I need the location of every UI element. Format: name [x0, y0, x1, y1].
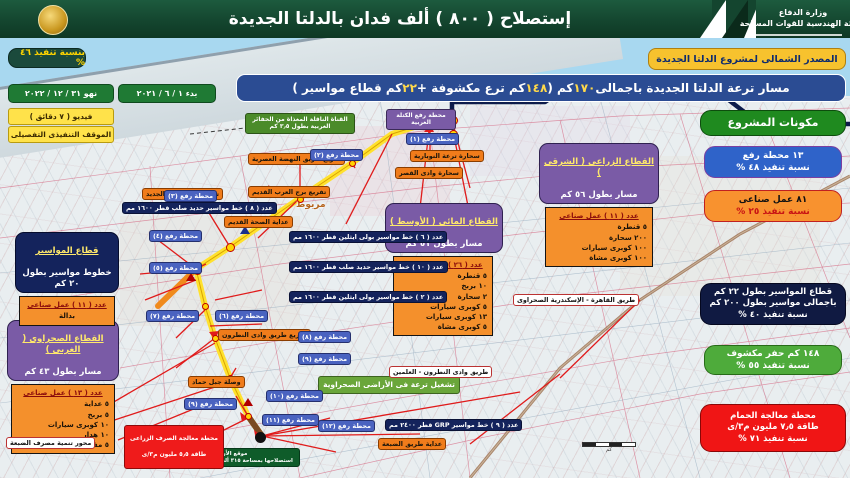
callout-agri-drain-treatment[interactable]: محطة معالجة الصرف الزراعى طاقة ٥٫٥ مليون…: [124, 425, 224, 469]
lift-stations-count: ١٣ محطة رفع: [743, 150, 804, 162]
banner-open-text: كم ترع مكشوفة +: [417, 81, 525, 95]
sector-card-eastern[interactable]: القطاع الزراعى ( الشرقى ) مسار بطول ٥٦ ك…: [539, 143, 659, 267]
sector-pipeline-body: عدد ( ١١ ) عمل صناعى بدالة: [19, 296, 115, 325]
callout-nubariya-canal-culvert[interactable]: سحارة ترعة النوبارية: [410, 150, 484, 162]
pipeline-total: باجمالى مواسير بطول ٢٠٠ كم: [709, 298, 836, 309]
sector-pipeline-row: بدالة: [25, 311, 109, 321]
sector-eastern-head: القطاع الزراعى ( الشرقى ) مسار بطول ٥٦ ك…: [539, 143, 659, 204]
callout-qasr-culvert[interactable]: سحارة وادى القصر: [395, 167, 463, 179]
station-west-tahrir[interactable]: محطة رفع الكتلة الغربية: [386, 109, 456, 130]
station-8[interactable]: محطة رفع (٨): [298, 331, 351, 343]
progress-badge: بنسبة تنفيذ ٤٦ %: [8, 48, 86, 68]
hammam-progress: نسبة تنفيذ ٧١ %: [738, 434, 807, 445]
detail-status-button[interactable]: الموقف التنفيذى التفصيلى: [8, 126, 114, 143]
station-9-alt[interactable]: محطة رفع (٩): [298, 353, 351, 365]
canal-node-d: [349, 160, 356, 167]
banner-pipe-km: ٢٢: [402, 81, 417, 95]
sector-pipeline-title: قطاع المواسير: [36, 246, 99, 256]
drain-title: محطة معالجة الصرف الزراعى: [128, 435, 220, 443]
sector-card-western[interactable]: القطاع الصحراوى ( الغربى ) مسار بطول ٤٣ …: [7, 320, 119, 454]
org-line-1: وزارة الدفاع: [779, 8, 828, 19]
sector-eastern-row: ١٠٠ كوبرى سيارات: [551, 243, 647, 253]
callout-dabaa-road-crossing[interactable]: عداية طريق الضبعة: [378, 438, 446, 450]
station-1[interactable]: محطة رفع (١): [406, 133, 459, 145]
station-4[interactable]: محطة رفع (٤): [149, 230, 202, 242]
slide-canvas: إستصلاح ( ٨٠٠ ) ألف فدان بالدلتا الجديدة…: [0, 0, 850, 478]
banner-total-km: ١٧٠: [573, 81, 595, 95]
callout-branch-old-borg-arab[interactable]: تفريع برج العرب القديم: [248, 186, 330, 198]
project-components-title: مكونات المشروع: [700, 110, 846, 136]
banner-open-km: ١٤٨: [525, 81, 547, 95]
terminal-node: [255, 432, 266, 443]
sector-eastern-row: ٥ قنطرة: [551, 222, 647, 232]
callout-wadi-natrun-alamein-road[interactable]: طريق وادى النطرون - العلمين: [389, 366, 492, 378]
sector-eastern-row: ١٠٠ كوبرى مشاة: [551, 253, 647, 263]
sector-middle-row: ٥ كوبرى سيارات: [399, 302, 487, 312]
component-pipeline-sector[interactable]: قطاع المواسير بطول ٢٢ كم باجمالى مواسير …: [700, 283, 846, 325]
canal-node-k: [245, 413, 252, 420]
station-5[interactable]: محطة رفع (٥): [149, 262, 202, 274]
station-7[interactable]: محطة رفع (٧): [146, 310, 199, 322]
callout-pipe-line-2[interactable]: عدد ( ٢ ) خط مواسير بولى ايثلين قطر ١٦٠٠…: [289, 291, 447, 303]
header-underline: [756, 34, 842, 36]
canal-node-f: [226, 243, 235, 252]
sector-western-title: القطاع الصحراوى ( الغربى ): [22, 334, 103, 355]
sector-pipeline-works-title: عدد ( ١١ ) عمل صناعى: [25, 300, 109, 310]
component-industrial-works[interactable]: ٨١ عمل صناعى نسبة تنفيذ ٢٥ %: [704, 190, 842, 222]
sector-eastern-length: مسار بطول ٥٦ كم: [560, 190, 637, 200]
lift-stations-progress: نسبة تنفيذ ٤٨ %: [736, 162, 810, 174]
banner-mid: كم (: [547, 81, 573, 95]
sector-western-length: مسار بطول ٤٣ كم: [24, 367, 101, 377]
station-12[interactable]: محطة رفع (١٢): [318, 420, 375, 432]
sector-pipeline-head: قطاع المواسير خطوط مواسير بطول ٢٠ كم: [15, 232, 119, 293]
map-scale: كم: [582, 442, 636, 453]
scale-unit: كم: [606, 447, 612, 453]
sector-card-pipeline[interactable]: قطاع المواسير خطوط مواسير بطول ٢٠ كم عدد…: [15, 232, 119, 326]
start-date-button[interactable]: بدء ١ / ٦ / ٢٠٢١: [118, 84, 216, 103]
component-hammam-treatment[interactable]: محطة معالجة الحمام طاقة ٧٫٥ مليون م٣/ى ن…: [700, 404, 846, 452]
pipeline-progress: نسبة تنفيذ ٤٠ %: [738, 310, 807, 321]
end-date-button[interactable]: نهو ٣١ / ١٢ / ٢٠٢٢: [8, 84, 114, 103]
sector-middle-row: ١٣ كوبرى سيارات: [399, 312, 487, 322]
sector-western-row: ٥ عداية: [17, 399, 109, 409]
station-11[interactable]: محطة رفع (١١): [262, 414, 319, 426]
pipeline-length: قطاع المواسير بطول ٢٢ كم: [714, 287, 832, 298]
component-lift-stations[interactable]: ١٣ محطة رفع نسبة تنفيذ ٤٨ %: [704, 146, 842, 178]
organization-block: وزارة الدفاع الهيئة الهندسية للقوات المس…: [756, 0, 850, 38]
sector-eastern-row: ٢٠٠ سحارة: [551, 233, 647, 243]
canal-node-h: [202, 303, 209, 310]
station-2[interactable]: محطة رفع (٢): [310, 149, 363, 161]
sector-western-head: القطاع الصحراوى ( الغربى ) مسار بطول ٤٣ …: [7, 320, 119, 381]
north-source-banner: المصدر الشمالى لمشروع الدلتا الجديدة: [648, 48, 846, 70]
industrial-works-progress: نسبة تنفيذ ٢٥ %: [736, 206, 810, 218]
industrial-works-count: ٨١ عمل صناعى: [739, 194, 808, 206]
pump-marker-1: [186, 273, 196, 281]
sector-western-row: ١٠ كوبرى سيارات: [17, 420, 109, 430]
sector-middle-title: القطاع المائى ( الأوسط ): [390, 217, 498, 227]
drain-capacity: طاقة ٥٫٥ مليون م٣/ى: [128, 451, 220, 459]
header-bar: إستصلاح ( ٨٠٠ ) ألف فدان بالدلتا الجديدة…: [0, 0, 850, 38]
callout-pipe-line-6[interactable]: عدد ( ٦ ) خط مواسير بولى ايثلين قطر ١٦٠٠…: [289, 231, 447, 243]
pump-marker-3: [243, 398, 253, 406]
callout-pipe-line-10[interactable]: عدد ( ١٠ ) خط مواسير حديد صلب قطر ١٦٠٠ م…: [289, 261, 448, 273]
open-canal-length: ١٤٨ كم حفر مكشوف: [727, 348, 820, 360]
canal-route-banner: مسار ترعة الدلتا الجديدة باجمالى ١٧٠ كم …: [236, 74, 846, 102]
callout-old-desert-road[interactable]: عداية الصحة القديم: [224, 216, 293, 228]
component-open-canal[interactable]: ١٤٨ كم حفر مكشوف نسبة تنفيذ ٥٥ %: [704, 345, 842, 375]
callout-dabaa-drain-axis[interactable]: محور تنمية مصرف الضبعة: [6, 437, 95, 449]
ministry-seal-icon: [38, 5, 68, 35]
video-button[interactable]: فيديو ( ٧ دقائق ): [8, 108, 114, 125]
callout-jabal-hamad-junction[interactable]: وصلة جبل حماد: [188, 376, 245, 388]
station-10[interactable]: محطة رفع (١٠): [266, 390, 323, 402]
sector-middle-row: ٥ كوبرى مشاة: [399, 322, 487, 332]
callout-cairo-alex-desert-road[interactable]: طريق القاهرة - الإسكندرية الصحراوى: [513, 294, 639, 306]
sector-eastern-title: القطاع الزراعى ( الشرقى ): [544, 157, 654, 178]
hammam-capacity: طاقة ٧٫٥ مليون م٣/ى: [727, 422, 819, 433]
open-canal-progress: نسبة تنفيذ ٥٥ %: [736, 360, 810, 372]
callout-north-feed-line[interactable]: القناة الناقلة المغذاة من الحفائر الغربي…: [245, 113, 355, 134]
sector-western-row: ٥ بربخ: [17, 410, 109, 420]
sector-eastern-works-title: عدد ( ١١ ) عمل صناعى: [551, 211, 647, 221]
banner-prefix: مسار ترعة الدلتا الجديدة باجمالى: [595, 81, 789, 95]
station-9[interactable]: محطة رفع (٩): [184, 398, 237, 410]
callout-branch-wadi-natrun[interactable]: تفريع طريق وادى النطرون: [218, 329, 311, 341]
org-line-2: الهيئة الهندسية للقوات المسلحة: [740, 19, 850, 30]
sector-pipeline-length: خطوط مواسير بطول ٢٠ كم: [22, 268, 111, 289]
sector-western-works-title: عدد ( ١٣ ) عمل صناعى: [17, 388, 109, 398]
callout-desert-canal-operation[interactable]: تشغيل ترعة فى الأراضى الصحراوية: [318, 376, 460, 394]
hammam-title: محطة معالجة الحمام: [730, 411, 816, 422]
page-title: إستصلاح ( ٨٠٠ ) ألف فدان بالدلتا الجديدة: [120, 0, 680, 38]
callout-pipe-line-grp[interactable]: عدد ( ٩ ) خط مواسير GRP قطر ٢٤٠٠ مم: [385, 419, 522, 431]
sector-eastern-body: عدد ( ١١ ) عمل صناعى ٥ قنطرة ٢٠٠ سحارة ١…: [545, 207, 653, 267]
station-3[interactable]: محطة رفع (٣): [164, 190, 217, 202]
callout-pipe-line-8[interactable]: عدد ( ٨ ) خط مواسير حديد صلب قطر ١٦٠٠ مم: [122, 202, 277, 214]
station-6[interactable]: محطة رفع (٦): [215, 310, 268, 322]
sector-middle-head: القطاع المائى ( الأوسط ) مسار بطول ٥١ كم: [385, 203, 503, 253]
banner-pipe-text: كم قطاع مواسير ): [292, 81, 402, 95]
